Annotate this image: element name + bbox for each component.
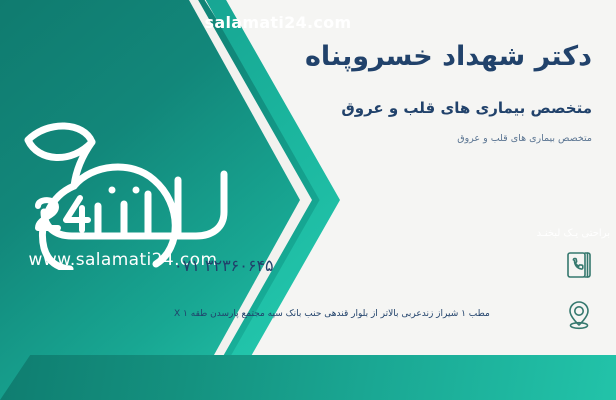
location-pin-icon (560, 296, 598, 334)
doctor-specialty-secondary: متخصص بیماری های قلب و عروق (172, 133, 592, 145)
logo-slogan: براحتی یـک لبخنـد (480, 228, 610, 239)
doctor-name: دکتر شهداد خسروپناه (172, 40, 592, 74)
clinic-address: مطب ۱ شیراز زندعربی بالاتر از بلوار قنده… (168, 308, 560, 322)
contact-row-address[interactable]: مطب ۱ شیراز زندعربی بالاتر از بلوار قنده… (168, 296, 598, 334)
footer-bar (0, 355, 616, 400)
business-card: براحتی یـک لبخنـد www.salamati24.com دکت… (0, 0, 616, 400)
twentyfour-badge-icon (32, 194, 92, 234)
footer-website[interactable]: salamati24.com (0, 0, 616, 45)
contact-row-phone[interactable]: ۳۲۳۶۰۶۴۵ ۰۷۱ (168, 246, 598, 284)
phone-number: ۳۲۳۶۰۶۴۵ ۰۷۱ (168, 256, 560, 275)
phone-book-icon (560, 246, 598, 284)
contact-block: ۳۲۳۶۰۶۴۵ ۰۷۱ مطب ۱ شیراز زندعربی بالاتر … (168, 246, 598, 346)
doctor-specialty: متخصص بیماری های قلب و عروق (172, 99, 592, 119)
